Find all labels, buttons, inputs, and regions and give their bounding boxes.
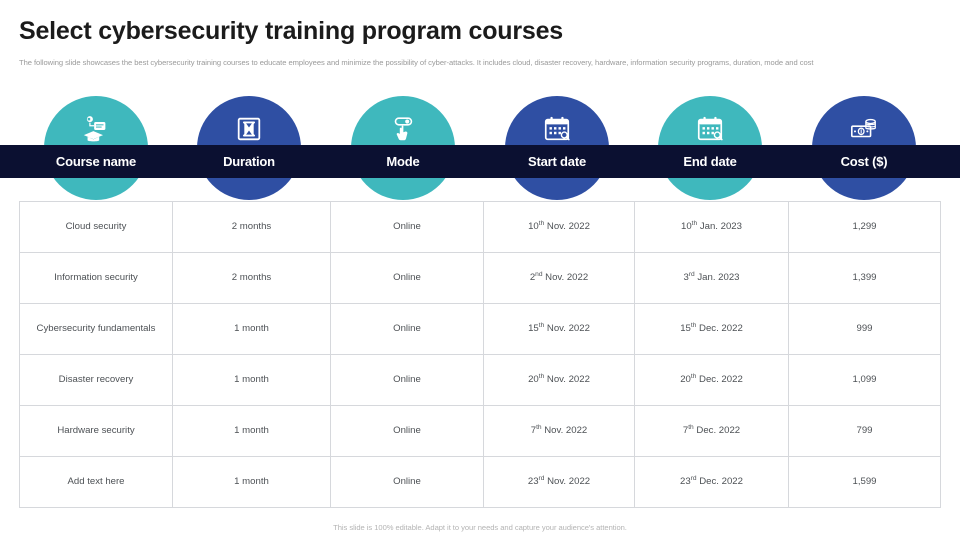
calendar-search-icon [542,114,572,144]
cell-end_date[interactable]: 20th Dec. 2022 [635,355,789,406]
cell-cost[interactable]: 1,299 [789,202,941,253]
hourglass-icon [234,114,264,144]
cell-course_name[interactable]: Disaster recovery [20,355,173,406]
cell-mode[interactable]: Online [331,406,484,457]
table-row: Disaster recovery1 monthOnline20th Nov. … [20,355,941,406]
courses-table: Cloud security2 monthsOnline10th Nov. 20… [19,201,941,508]
cell-duration[interactable]: 1 month [173,457,331,508]
cell-mode[interactable]: Online [331,457,484,508]
table-row: Cybersecurity fundamentals1 monthOnline1… [20,304,941,355]
cell-course_name[interactable]: Information security [20,253,173,304]
cell-course_name[interactable]: Add text here [20,457,173,508]
cell-cost[interactable]: 799 [789,406,941,457]
cell-start_date[interactable]: 15th Nov. 2022 [484,304,635,355]
cell-end_date[interactable]: 10th Jan. 2023 [635,202,789,253]
cell-course_name[interactable]: Hardware security [20,406,173,457]
cell-duration[interactable]: 2 months [173,202,331,253]
column-header-cost[interactable]: Cost ($) [784,145,944,178]
hand-click-toggle-icon [388,114,418,144]
cell-start_date[interactable]: 10th Nov. 2022 [484,202,635,253]
cell-cost[interactable]: 1,599 [789,457,941,508]
page-subtitle: The following slide showcases the best c… [19,58,944,69]
table-row: Add text here1 monthOnline23rd Nov. 2022… [20,457,941,508]
cell-cost[interactable]: 1,099 [789,355,941,406]
cell-cost[interactable]: 1,399 [789,253,941,304]
cell-mode[interactable]: Online [331,202,484,253]
column-header-mode[interactable]: Mode [323,145,483,178]
cell-duration[interactable]: 1 month [173,406,331,457]
column-header-end_date[interactable]: End date [630,145,790,178]
cell-start_date[interactable]: 23rd Nov. 2022 [484,457,635,508]
cell-duration[interactable]: 1 month [173,304,331,355]
cell-duration[interactable]: 1 month [173,355,331,406]
cell-course_name[interactable]: Cybersecurity fundamentals [20,304,173,355]
cell-end_date[interactable]: 3rd Jan. 2023 [635,253,789,304]
cell-mode[interactable]: Online [331,253,484,304]
calendar-search-icon [695,114,725,144]
cell-course_name[interactable]: Cloud security [20,202,173,253]
table-body: Cloud security2 monthsOnline10th Nov. 20… [20,202,941,508]
table-header-bar: Course nameDurationModeStart dateEnd dat… [0,145,960,178]
table-row: Information security2 monthsOnline2nd No… [20,253,941,304]
cell-start_date[interactable]: 20th Nov. 2022 [484,355,635,406]
cell-end_date[interactable]: 15th Dec. 2022 [635,304,789,355]
graduation-cap-monitor-icon [81,114,111,144]
cell-cost[interactable]: 999 [789,304,941,355]
cell-end_date[interactable]: 7th Dec. 2022 [635,406,789,457]
cell-start_date[interactable]: 2nd Nov. 2022 [484,253,635,304]
table-row: Hardware security1 monthOnline7th Nov. 2… [20,406,941,457]
column-header-course_name[interactable]: Course name [16,145,176,178]
slide-root: Select cybersecurity training program co… [0,0,960,540]
banknote-coins-icon [849,114,879,144]
page-title: Select cybersecurity training program co… [19,17,563,46]
cell-mode[interactable]: Online [331,304,484,355]
editable-note: This slide is 100% editable. Adapt it to… [0,523,960,532]
cell-end_date[interactable]: 23rd Dec. 2022 [635,457,789,508]
table-row: Cloud security2 monthsOnline10th Nov. 20… [20,202,941,253]
cell-mode[interactable]: Online [331,355,484,406]
column-header-start_date[interactable]: Start date [477,145,637,178]
cell-duration[interactable]: 2 months [173,253,331,304]
cell-start_date[interactable]: 7th Nov. 2022 [484,406,635,457]
column-header-duration[interactable]: Duration [169,145,329,178]
